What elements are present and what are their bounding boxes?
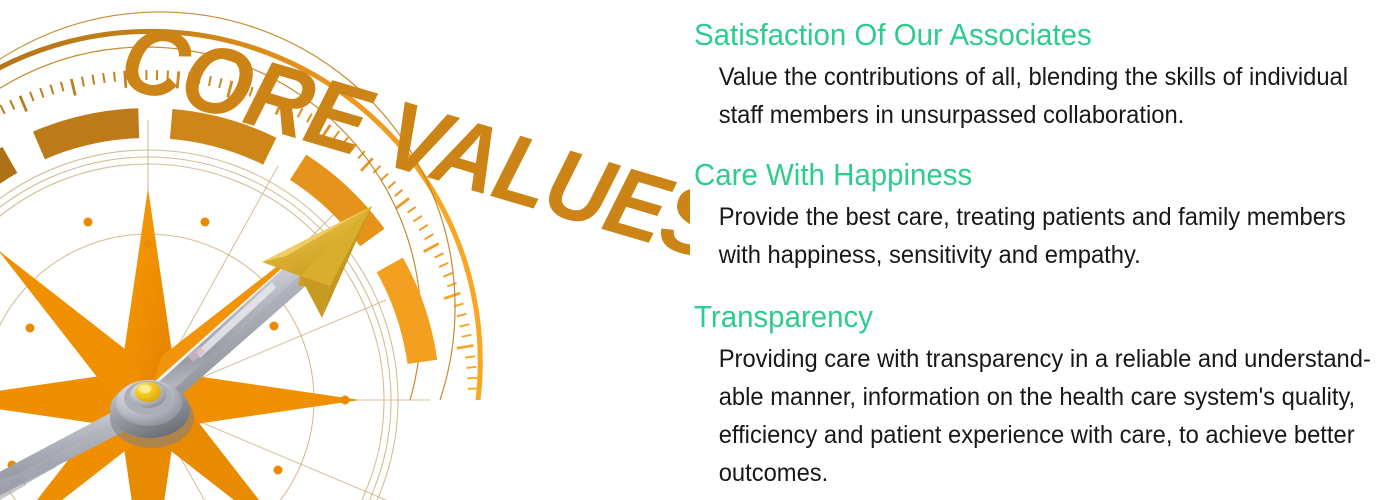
value-description-line: Provide the best care, treating patients… — [719, 198, 1346, 236]
value-heading: Satisfaction Of Our Associates — [694, 18, 1348, 52]
value-description-line: outcomes. — [719, 454, 1371, 492]
value-description: Providing care with transparency in a re… — [694, 340, 1371, 492]
value-heading: Care With Happiness — [694, 158, 1346, 192]
value-description: Provide the best care, treating patients… — [694, 198, 1346, 274]
core-values-banner: CORE VALUES Satisfaction Of Our Associat… — [0, 0, 1400, 500]
value-description-line: efficiency and patient experience with c… — [719, 416, 1371, 454]
value-heading: Transparency — [694, 300, 1371, 334]
value-block: Transparency Providing care with transpa… — [694, 300, 1400, 492]
compass-illustration: CORE VALUES — [0, 0, 690, 500]
value-description-line: Value the contributions of all, blending… — [719, 58, 1348, 96]
value-description-line: with happiness, sensitivity and empathy. — [719, 236, 1346, 274]
value-description-line: able manner, information on the health c… — [719, 378, 1371, 416]
values-list: Satisfaction Of Our Associates Value the… — [694, 0, 1394, 500]
value-description-line: Providing care with transparency in a re… — [719, 340, 1371, 378]
value-description-line: staff members in unsurpassed collaborati… — [719, 96, 1348, 134]
value-description: Value the contributions of all, blending… — [694, 58, 1348, 134]
band-segment — [0, 147, 17, 236]
value-block: Care With Happiness Provide the best car… — [694, 158, 1380, 274]
value-block: Satisfaction Of Our Associates Value the… — [694, 18, 1382, 134]
